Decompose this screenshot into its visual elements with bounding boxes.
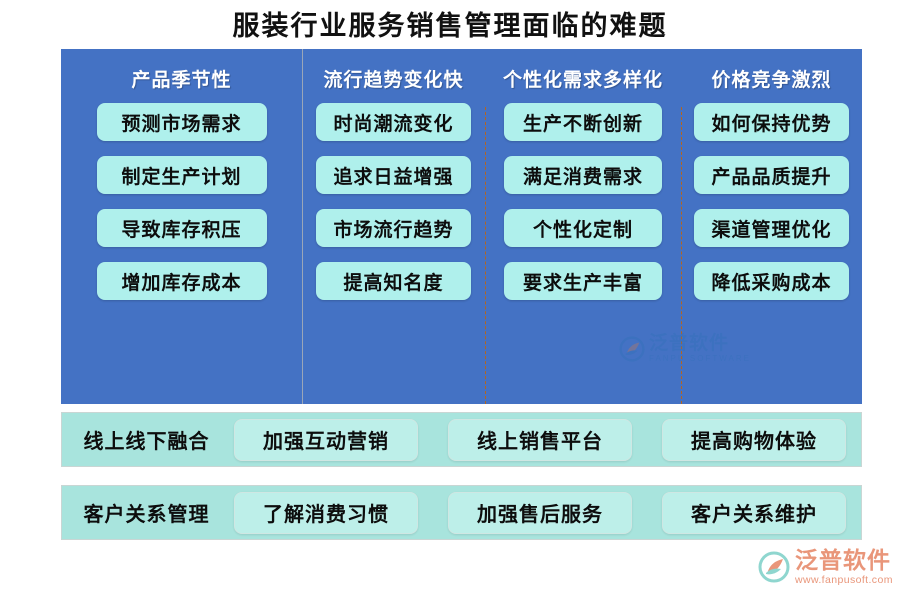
band-pill[interactable]: 线上销售平台: [448, 419, 632, 461]
band-label: 线上线下融合: [74, 425, 219, 454]
logo-company-name: 泛普软件: [795, 549, 893, 572]
page-title: 服装行业服务销售管理面临的难题: [0, 4, 900, 43]
column-price-competition: 价格竞争激烈 如何保持优势 产品品质提升 渠道管理优化 降低采购成本: [681, 49, 862, 404]
band-online-offline: 线上线下融合 加强互动营销 线上销售平台 提高购物体验: [61, 412, 862, 467]
topic-pill[interactable]: 如何保持优势: [694, 103, 849, 141]
main-panel: 产品季节性 预测市场需求 制定生产计划 导致库存积压 增加库存成本 流行趋势变化…: [61, 49, 862, 404]
topic-pill[interactable]: 要求生产丰富: [504, 262, 662, 300]
topic-pill[interactable]: 市场流行趋势: [316, 209, 471, 247]
topic-pill[interactable]: 产品品质提升: [694, 156, 849, 194]
topic-pill[interactable]: 追求日益增强: [316, 156, 471, 194]
infographic-root: 服装行业服务销售管理面临的难题 产品季节性 预测市场需求 制定生产计划 导致库存…: [0, 0, 900, 600]
topic-pill[interactable]: 提高知名度: [316, 262, 471, 300]
band-items: 了解消费习惯 加强售后服务 客户关系维护: [219, 492, 861, 534]
band-pill[interactable]: 加强售后服务: [448, 492, 632, 534]
topic-pill[interactable]: 时尚潮流变化: [316, 103, 471, 141]
band-pill[interactable]: 了解消费习惯: [234, 492, 418, 534]
fanpu-logo-icon: [757, 550, 791, 584]
column-header: 价格竞争激烈: [711, 59, 831, 103]
topic-pill[interactable]: 个性化定制: [504, 209, 662, 247]
column-product-seasonality: 产品季节性 预测市场需求 制定生产计划 导致库存积压 增加库存成本: [61, 49, 302, 404]
topic-pill[interactable]: 预测市场需求: [97, 103, 267, 141]
topic-pill[interactable]: 增加库存成本: [97, 262, 267, 300]
column-header: 流行趋势变化快: [323, 59, 463, 103]
topic-pill[interactable]: 制定生产计划: [97, 156, 267, 194]
fanpu-logo: 泛普软件 www.fanpusoft.com: [757, 549, 893, 586]
topic-pill[interactable]: 满足消费需求: [504, 156, 662, 194]
column-header: 个性化需求多样化: [503, 59, 663, 103]
topic-pill[interactable]: 导致库存积压: [97, 209, 267, 247]
column-header: 产品季节性: [131, 59, 231, 103]
topic-pill[interactable]: 渠道管理优化: [694, 209, 849, 247]
band-items: 加强互动营销 线上销售平台 提高购物体验: [219, 419, 861, 461]
fanpu-logo-text: 泛普软件 www.fanpusoft.com: [795, 549, 893, 586]
column-trend-change: 流行趋势变化快 时尚潮流变化 追求日益增强 市场流行趋势 提高知名度: [302, 49, 485, 404]
band-pill[interactable]: 客户关系维护: [662, 492, 846, 534]
band-pill[interactable]: 提高购物体验: [662, 419, 846, 461]
band-pill[interactable]: 加强互动营销: [234, 419, 418, 461]
topic-pill[interactable]: 生产不断创新: [504, 103, 662, 141]
columns-container: 产品季节性 预测市场需求 制定生产计划 导致库存积压 增加库存成本 流行趋势变化…: [61, 49, 862, 404]
logo-url: www.fanpusoft.com: [795, 575, 893, 586]
column-personalized-demand: 个性化需求多样化 生产不断创新 满足消费需求 个性化定制 要求生产丰富: [485, 49, 681, 404]
topic-pill[interactable]: 降低采购成本: [694, 262, 849, 300]
band-customer-relationship: 客户关系管理 了解消费习惯 加强售后服务 客户关系维护: [61, 485, 862, 540]
band-label: 客户关系管理: [74, 498, 219, 527]
